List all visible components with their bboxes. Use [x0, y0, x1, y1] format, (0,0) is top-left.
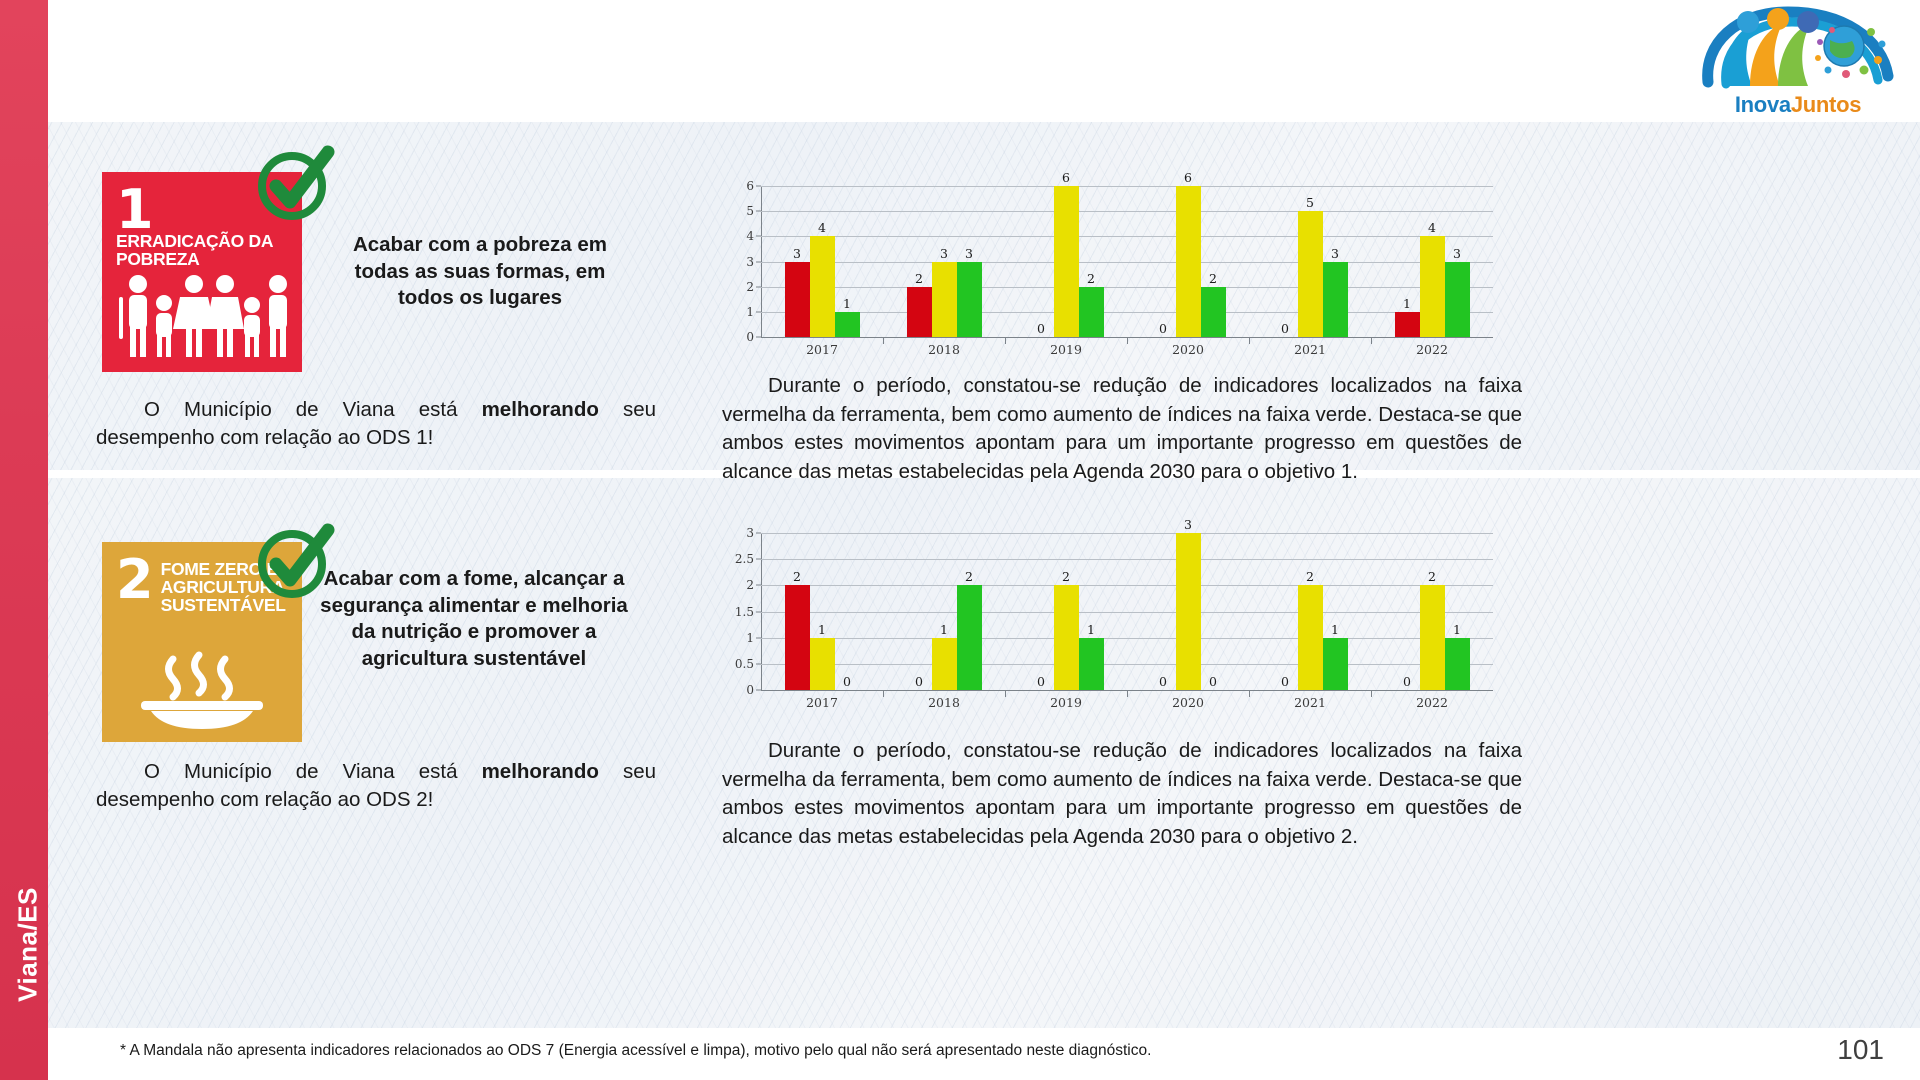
chart-bar [810, 236, 835, 337]
x-axis-label: 2018 [883, 342, 1005, 357]
grid-line [761, 287, 1493, 288]
y-axis-label: 2 [733, 578, 754, 592]
chart-bar [932, 638, 957, 690]
grid-line [761, 186, 1493, 187]
y-tick [756, 311, 761, 312]
chart-bar [1079, 287, 1104, 337]
grid-line [761, 236, 1493, 237]
chart-bar [785, 585, 810, 690]
x-axis-label: 2022 [1371, 342, 1493, 357]
y-axis-label: 4 [733, 229, 754, 243]
bar-value-label: 2 [1073, 271, 1110, 286]
bar-value-label: 2 [1292, 569, 1329, 584]
family-figures-icon [102, 273, 302, 364]
steaming-bowl-icon [102, 651, 302, 734]
x-axis-label: 2017 [761, 695, 883, 710]
grid-line [761, 559, 1493, 560]
x-tick [1371, 691, 1372, 697]
bar-value-label: 2 [1048, 569, 1085, 584]
x-tick [1127, 691, 1128, 697]
chart-bar [1323, 638, 1348, 690]
y-tick [756, 211, 761, 212]
bar-value-label: 3 [1317, 246, 1354, 261]
summary-text-2: O Município de Viana está melhorando seu… [96, 758, 656, 815]
summary-prefix-1: O Município de Viana está [144, 398, 482, 421]
footnote: * A Mandala não apresenta indicadores re… [120, 1042, 1151, 1060]
y-axis-label: 5 [733, 204, 754, 218]
grid-line [761, 612, 1493, 613]
chart-bar [1323, 262, 1348, 338]
x-axis-label: 2018 [883, 695, 1005, 710]
x-tick [1127, 338, 1128, 344]
bar-value-label: 5 [1292, 195, 1329, 210]
logo-text-inova: Inova [1735, 92, 1791, 117]
chart-bar [1201, 287, 1226, 337]
chart-bar [1054, 186, 1079, 337]
x-axis-label: 2020 [1127, 342, 1249, 357]
y-tick [756, 236, 761, 237]
analysis-paragraph-2: Durante o período, constatou-se redução … [722, 737, 1522, 852]
summary-text-1: O Município de Viana está melhorando seu… [96, 396, 656, 453]
bar-value-label: 6 [1048, 170, 1085, 185]
x-tick [1249, 691, 1250, 697]
y-tick [756, 690, 761, 691]
bar-value-label: 6 [1170, 170, 1207, 185]
inovajuntos-globe-logo [1692, 4, 1904, 100]
chart-bar [907, 287, 932, 337]
bar-value-label: 2 [1195, 271, 1232, 286]
bar-value-label: 2 [951, 569, 988, 584]
grid-line [761, 533, 1493, 534]
x-tick [883, 338, 884, 344]
summary-prefix-2: O Município de Viana está [144, 760, 482, 783]
chart-bar [957, 585, 982, 690]
analysis-paragraph-text-1: Durante o período, constatou-se redução … [722, 374, 1522, 483]
y-tick [756, 611, 761, 612]
summary-highlight-2: melhorando [482, 760, 599, 783]
chart-bar [835, 312, 860, 337]
y-axis-label: 2.5 [733, 552, 754, 566]
x-tick [1371, 338, 1372, 344]
grid-line [761, 211, 1493, 212]
x-tick [1005, 338, 1006, 344]
chart-bar [1176, 533, 1201, 690]
sdg-number-1: 1 [116, 188, 152, 232]
y-tick [756, 186, 761, 187]
bar-value-label: 4 [1414, 220, 1451, 235]
x-axis-label: 2017 [761, 342, 883, 357]
bar-value-label: 2 [779, 569, 816, 584]
y-tick [756, 533, 761, 534]
page-number: 101 [1837, 1034, 1884, 1066]
chart-bar [1176, 186, 1201, 337]
y-tick [756, 261, 761, 262]
bar-value-label: 1 [1439, 622, 1476, 637]
bar-value-label: 0 [829, 674, 866, 689]
x-tick [1005, 691, 1006, 697]
chart-bar [1054, 585, 1079, 690]
y-tick [756, 337, 761, 338]
analysis-paragraph-text-2: Durante o período, constatou-se redução … [722, 739, 1522, 848]
y-tick [756, 637, 761, 638]
summary-highlight-1: melhorando [482, 398, 599, 421]
bar-value-label: 0 [1195, 674, 1232, 689]
x-tick [1249, 338, 1250, 344]
slide-header: InovaJuntos [48, 0, 1920, 122]
chart-bar [1420, 585, 1445, 690]
chart-bar [932, 262, 957, 338]
chart-bar [1445, 262, 1470, 338]
chart-bar [957, 262, 982, 338]
bar-value-label: 3 [1439, 246, 1476, 261]
plot-area-2: 00.511.522.53210201701220180212019030202… [733, 533, 1493, 691]
bar-value-label: 2 [1414, 569, 1451, 584]
y-axis-label: 0 [733, 330, 754, 344]
y-axis-label: 6 [733, 179, 754, 193]
bar-value-label: 1 [804, 622, 841, 637]
bar-chart-ods1: 0123456341201723320180622019062202005320… [733, 186, 1493, 338]
x-axis-label: 2019 [1005, 695, 1127, 710]
bar-chart-ods2: 00.511.522.53210201701220180212019030202… [733, 533, 1493, 691]
goal-statement-1: Acabar com a pobreza em todas as suas fo… [330, 232, 630, 312]
logo-text-juntos: Juntos [1791, 92, 1861, 117]
bar-value-label: 4 [804, 220, 841, 235]
y-axis-label: 3 [733, 255, 754, 269]
y-axis-label: 0.5 [733, 657, 754, 671]
x-axis-label: 2019 [1005, 342, 1127, 357]
grid-line [761, 585, 1493, 586]
sdg-number-2: 2 [116, 558, 152, 602]
y-tick [756, 286, 761, 287]
spine-label: Viana/ES [13, 865, 44, 1025]
y-axis-label: 2 [733, 280, 754, 294]
y-tick [756, 585, 761, 586]
y-axis-label: 1 [733, 631, 754, 645]
inovajuntos-logo: InovaJuntos [1692, 4, 1904, 120]
bar-value-label: 1 [1317, 622, 1354, 637]
y-axis-label: 1 [733, 305, 754, 319]
y-axis-label: 0 [733, 683, 754, 697]
chart-bar [1395, 312, 1420, 337]
chart-bar [1298, 211, 1323, 337]
bar-value-label: 1 [829, 296, 866, 311]
bar-value-label: 3 [1170, 517, 1207, 532]
analysis-paragraph-1: Durante o período, constatou-se redução … [722, 372, 1522, 487]
grid-line [761, 638, 1493, 639]
logo-wordmark: InovaJuntos [1692, 92, 1904, 118]
left-spine: Viana/ES [0, 0, 48, 1080]
grid-line [761, 664, 1493, 665]
chart-bar [1445, 638, 1470, 690]
grid-line [761, 312, 1493, 313]
y-axis-label: 3 [733, 526, 754, 540]
x-tick [883, 691, 884, 697]
plot-area-1: 0123456341201723320180622019062202005320… [733, 186, 1493, 338]
x-axis-label: 2022 [1371, 695, 1493, 710]
green-check-icon-1 [252, 142, 336, 226]
chart-bar [1298, 585, 1323, 690]
slide-root: Viana/ES [0, 0, 1920, 1080]
y-tick [756, 663, 761, 664]
bar-value-label: 1 [1073, 622, 1110, 637]
bar-value-label: 3 [951, 246, 988, 261]
x-axis-label: 2021 [1249, 695, 1371, 710]
goal-statement-2: Acabar com a fome, alcançar a segurança … [318, 566, 630, 673]
y-tick [756, 559, 761, 560]
chart-bar [1079, 638, 1104, 690]
grid-line [761, 262, 1493, 263]
x-axis-label: 2021 [1249, 342, 1371, 357]
chart-bar [785, 262, 810, 338]
y-axis-label: 1.5 [733, 605, 754, 619]
x-axis-label: 2020 [1127, 695, 1249, 710]
